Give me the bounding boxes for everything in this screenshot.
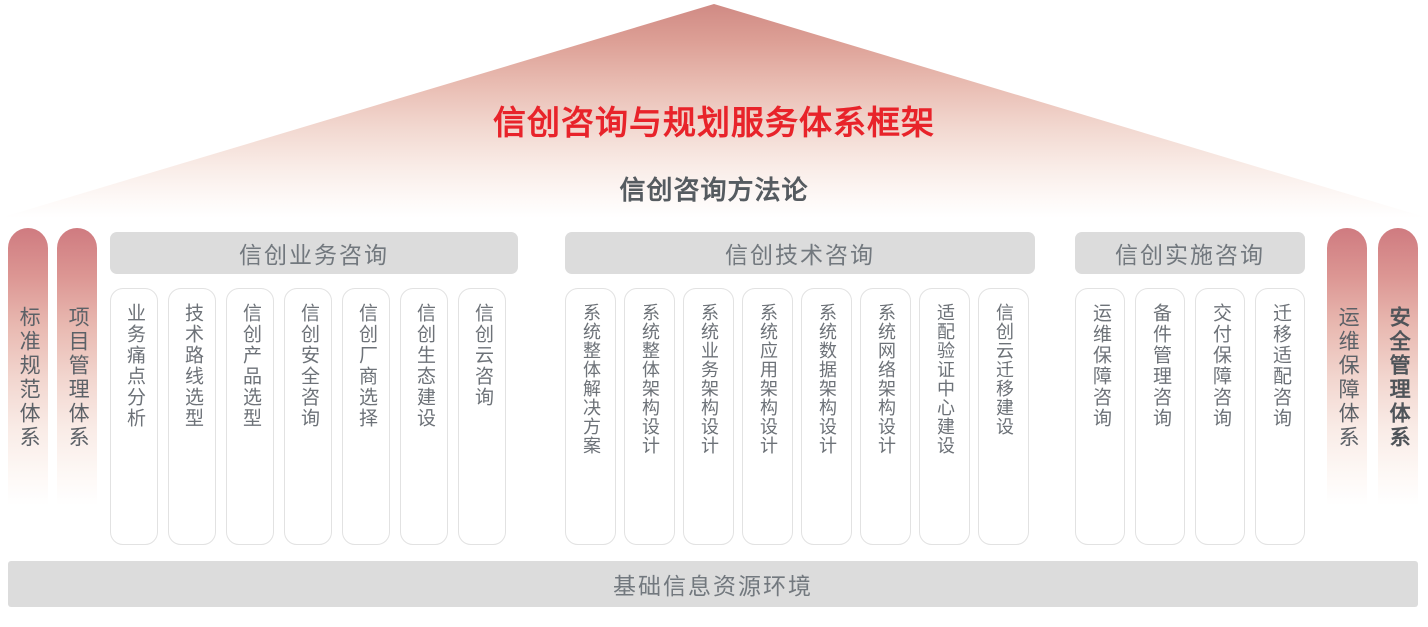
pillar-standard-spec-system[interactable]: 标准规范体系	[8, 228, 48, 530]
item-label: 备件管理咨询	[1150, 303, 1170, 429]
item-label: 信创安全咨询	[298, 303, 318, 429]
item-card[interactable]: 技术路线选型	[168, 288, 216, 545]
item-card[interactable]: 交付保障咨询	[1195, 288, 1245, 545]
pillar-security-management-system[interactable]: 安全管理体系	[1378, 228, 1418, 530]
item-card[interactable]: 系统数据架构设计	[801, 288, 852, 545]
item-card[interactable]: 运维保障咨询	[1075, 288, 1125, 545]
page-subtitle: 信创咨询方法论	[0, 170, 1428, 207]
item-card[interactable]: 业务痛点分析	[110, 288, 158, 545]
pillar-project-management-system[interactable]: 项目管理体系	[57, 228, 97, 530]
item-card[interactable]: 信创产品选型	[226, 288, 274, 545]
pillar-label: 运维保障体系	[1336, 306, 1358, 450]
item-card[interactable]: 信创生态建设	[400, 288, 448, 545]
group-item-list: 系统整体解决方案 系统整体架构设计 系统业务架构设计 系统应用架构设计 系统数据…	[565, 288, 1029, 545]
pillar-label: 标准规范体系	[17, 306, 39, 450]
item-card[interactable]: 系统整体解决方案	[565, 288, 616, 545]
group-technology-consulting: 信创技术咨询 系统整体解决方案 系统整体架构设计 系统业务架构设计 系统应用架构…	[565, 232, 1035, 274]
pillar-label: 安全管理体系	[1387, 306, 1409, 450]
item-label: 系统网络架构设计	[876, 303, 895, 455]
item-label: 系统整体架构设计	[640, 303, 659, 455]
item-label: 适配验证中心建设	[935, 303, 954, 455]
group-business-consulting: 信创业务咨询 业务痛点分析 技术路线选型 信创产品选型 信创安全咨询 信创厂商选…	[110, 232, 518, 274]
item-card[interactable]: 信创云迁移建设	[978, 288, 1029, 545]
item-label: 迁移适配咨询	[1270, 303, 1290, 429]
group-header[interactable]: 信创业务咨询	[110, 232, 518, 274]
item-card[interactable]: 系统业务架构设计	[683, 288, 734, 545]
group-item-list: 业务痛点分析 技术路线选型 信创产品选型 信创安全咨询 信创厂商选择 信创生态建…	[110, 288, 506, 545]
roof-triangle: 信创咨询与规划服务体系框架 信创咨询方法论	[0, 0, 1428, 218]
item-label: 系统业务架构设计	[699, 303, 718, 455]
item-label: 信创云迁移建设	[994, 303, 1013, 436]
foundation-bar[interactable]: 基础信息资源环境	[8, 561, 1418, 607]
item-label: 业务痛点分析	[124, 303, 144, 429]
group-implementation-consulting: 信创实施咨询 运维保障咨询 备件管理咨询 交付保障咨询 迁移适配咨询	[1075, 232, 1305, 274]
item-label: 技术路线选型	[182, 303, 202, 429]
group-header[interactable]: 信创实施咨询	[1075, 232, 1305, 274]
item-label: 系统应用架构设计	[758, 303, 777, 455]
pillar-label: 项目管理体系	[66, 306, 88, 450]
item-label: 信创产品选型	[240, 303, 260, 429]
page-title: 信创咨询与规划服务体系框架	[0, 96, 1428, 144]
item-card[interactable]: 迁移适配咨询	[1255, 288, 1305, 545]
item-label: 信创厂商选择	[356, 303, 376, 429]
item-card[interactable]: 适配验证中心建设	[919, 288, 970, 545]
item-card[interactable]: 信创厂商选择	[342, 288, 390, 545]
pillar-ops-assurance-system[interactable]: 运维保障体系	[1327, 228, 1367, 530]
item-card[interactable]: 系统应用架构设计	[742, 288, 793, 545]
item-label: 信创生态建设	[414, 303, 434, 429]
item-card[interactable]: 系统整体架构设计	[624, 288, 675, 545]
item-label: 系统整体解决方案	[581, 303, 600, 455]
item-label: 信创云咨询	[472, 303, 492, 408]
item-card[interactable]: 备件管理咨询	[1135, 288, 1185, 545]
item-card[interactable]: 信创安全咨询	[284, 288, 332, 545]
item-label: 交付保障咨询	[1210, 303, 1230, 429]
item-card[interactable]: 信创云咨询	[458, 288, 506, 545]
group-header[interactable]: 信创技术咨询	[565, 232, 1035, 274]
item-label: 运维保障咨询	[1090, 303, 1110, 429]
group-item-list: 运维保障咨询 备件管理咨询 交付保障咨询 迁移适配咨询	[1075, 288, 1305, 545]
diagram-canvas: 信创咨询与规划服务体系框架 信创咨询方法论 标准规范体系 项目管理体系 运维保障…	[0, 0, 1428, 627]
item-card[interactable]: 系统网络架构设计	[860, 288, 911, 545]
item-label: 系统数据架构设计	[817, 303, 836, 455]
